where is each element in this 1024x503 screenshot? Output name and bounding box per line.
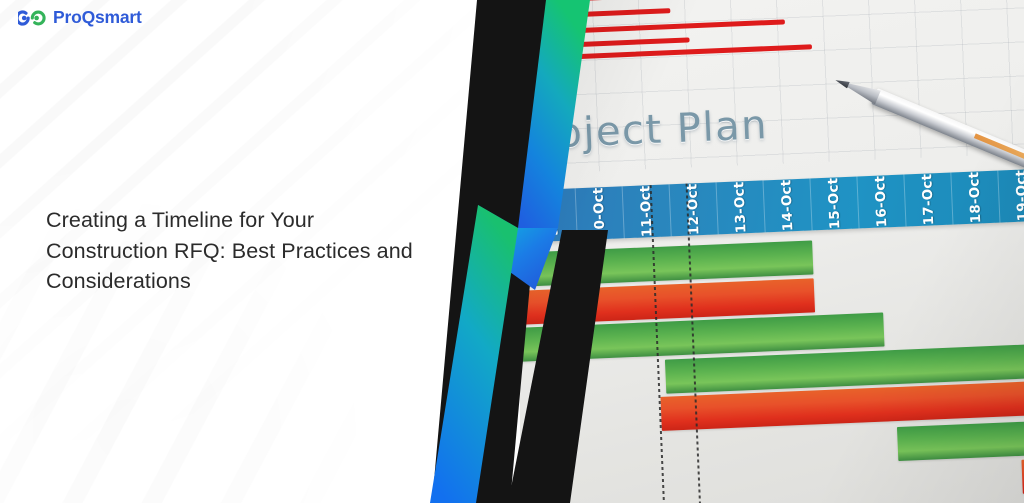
photo-paper: Project Plan 8-Oct9-Oct10-Oct11-Oct12-Oc…: [505, 0, 1024, 503]
brand-logo[interactable]: ProQsmart: [18, 8, 142, 28]
date-cell: 19-Oct: [998, 169, 1024, 223]
date-label: 13-Oct: [732, 181, 750, 233]
date-cell: 9-Oct: [529, 188, 578, 242]
date-cell: 17-Oct: [904, 173, 953, 227]
left-content-panel: ProQsmart Creating a Timeline for Your C…: [0, 0, 520, 503]
date-cell: 14-Oct: [763, 178, 812, 232]
blog-banner: ProQsmart Creating a Timeline for Your C…: [0, 0, 1024, 503]
date-cell: 12-Oct: [670, 182, 719, 236]
date-cell: 13-Oct: [717, 180, 766, 234]
date-label: 9-Oct: [544, 194, 562, 237]
brand-name: ProQsmart: [53, 9, 142, 27]
date-header-row: 8-Oct9-Oct10-Oct11-Oct12-Oct13-Oct14-Oct…: [505, 167, 1024, 244]
gantt-bar-green: [897, 417, 1024, 461]
date-label: 17-Oct: [919, 173, 937, 225]
date-label: 14-Oct: [778, 179, 796, 231]
pen-tip: [834, 77, 850, 89]
date-cell: 10-Oct: [576, 186, 625, 240]
page-title: Creating a Timeline for Your Constructio…: [46, 205, 431, 297]
date-cell: 16-Oct: [857, 175, 906, 229]
date-cell: 11-Oct: [623, 184, 672, 238]
project-plan-gantt-chart-photo: Project Plan 8-Oct9-Oct10-Oct11-Oct12-Oc…: [505, 0, 1024, 503]
date-label: 19-Oct: [1013, 170, 1024, 222]
date-label: 16-Oct: [872, 175, 890, 227]
date-label: 15-Oct: [825, 177, 843, 229]
dual-circle-logo-icon: [18, 8, 46, 28]
date-label: 18-Oct: [966, 171, 984, 223]
date-label: 10-Oct: [591, 187, 609, 239]
date-cell: 18-Oct: [951, 171, 1000, 225]
date-cell: 15-Oct: [810, 176, 859, 230]
